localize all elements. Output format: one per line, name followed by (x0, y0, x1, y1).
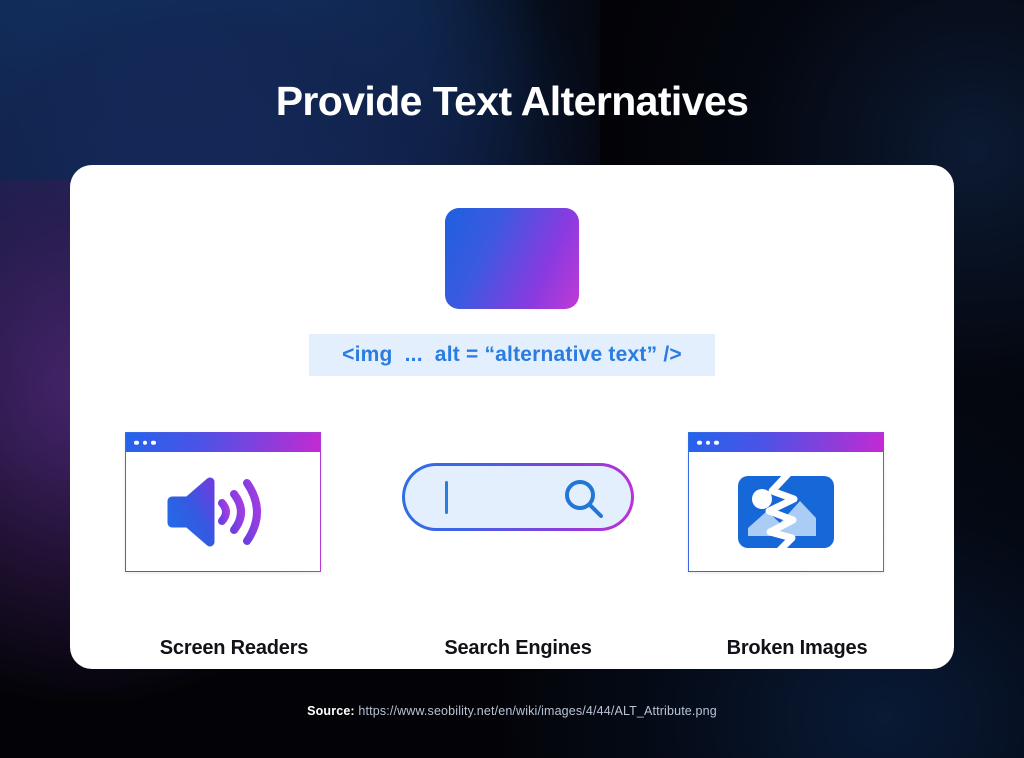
browser-content (126, 452, 320, 571)
slide-canvas: Provide Text Alternatives <img ... alt =… (0, 0, 1024, 758)
speaker-volume-icon (166, 472, 280, 552)
text-cursor-icon (445, 481, 448, 514)
browser-titlebar (689, 433, 883, 452)
window-dot-icon (706, 440, 711, 445)
column-label-broken-images: Broken Images (672, 637, 922, 660)
source-label: Source: (307, 704, 358, 718)
image-icon-background (445, 208, 579, 309)
browser-titlebar (126, 433, 320, 452)
search-bar-mock[interactable] (402, 463, 634, 531)
browser-window-screen-readers (125, 432, 321, 572)
source-attribution: Source: https://www.seobility.net/en/wik… (0, 704, 1024, 718)
column-label-screen-readers: Screen Readers (109, 637, 359, 660)
broken-image-icon (736, 474, 836, 550)
search-magnifier-icon[interactable] (562, 477, 606, 521)
code-snippet-box: <img ... alt = “alternative text” /> (309, 334, 715, 376)
window-dot-icon (151, 440, 156, 445)
window-dots (134, 440, 156, 445)
browser-content (689, 452, 883, 571)
window-dot-icon (143, 440, 148, 445)
window-dot-icon (697, 440, 702, 445)
page-title: Provide Text Alternatives (0, 78, 1024, 125)
source-url: https://www.seobility.net/en/wiki/images… (358, 704, 716, 718)
image-placeholder-icon (445, 208, 579, 309)
browser-window-broken-images (688, 432, 884, 572)
column-label-search-engines: Search Engines (393, 637, 643, 660)
window-dot-icon (134, 440, 139, 445)
window-dots (697, 440, 719, 445)
window-dot-icon (714, 440, 719, 445)
code-snippet-text: <img ... alt = “alternative text” /> (342, 343, 682, 367)
